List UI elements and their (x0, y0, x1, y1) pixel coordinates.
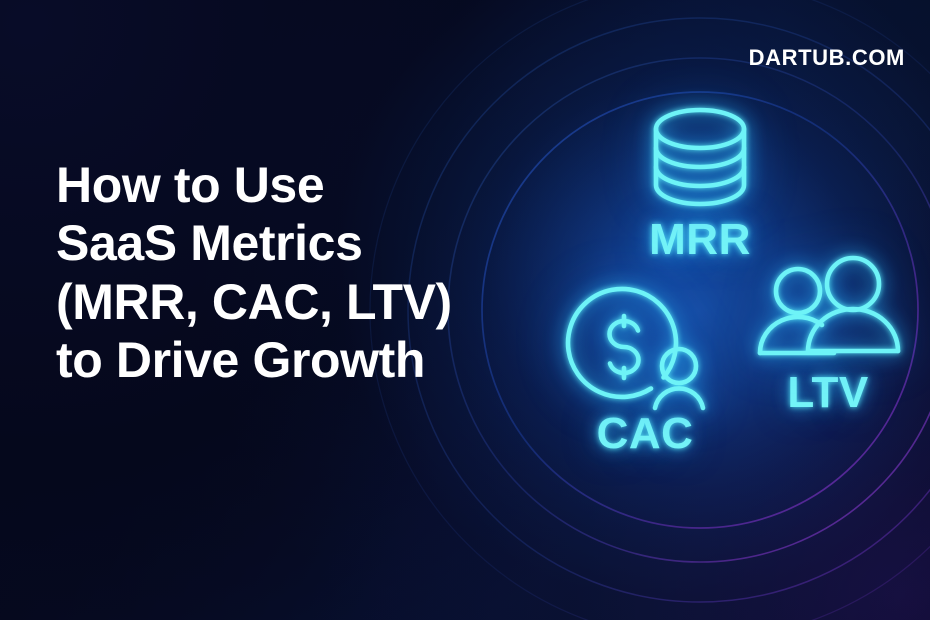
dollar-circle-person-icon (555, 282, 735, 412)
two-people-icon (748, 255, 908, 373)
metric-cac: CAC (555, 282, 735, 456)
page-title: How to Use SaaS Metrics (MRR, CAC, LTV) … (56, 156, 526, 390)
poster-canvas: DARTUB.COM How to Use SaaS Metrics (MRR,… (0, 0, 930, 620)
metrics-cluster: MRR CAC (470, 60, 930, 560)
database-stack-icon (620, 102, 780, 214)
metric-mrr: MRR (620, 102, 780, 262)
metric-ltv: LTV (748, 255, 908, 415)
metric-cac-label: CAC (555, 412, 735, 456)
metric-ltv-label: LTV (748, 371, 908, 415)
